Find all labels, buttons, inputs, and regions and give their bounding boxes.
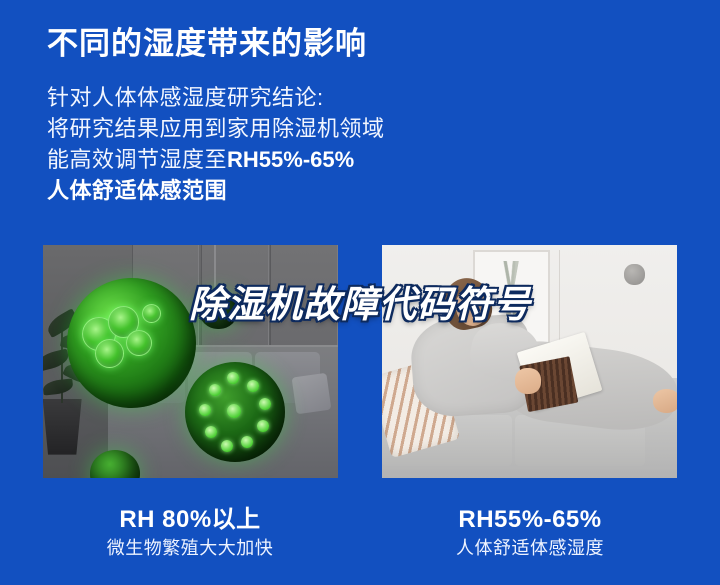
caption-right-description: 人体舒适体感湿度	[380, 535, 680, 561]
intro-line-1: 针对人体体感湿度研究结论:	[47, 82, 527, 113]
virus-spike	[257, 420, 269, 432]
virus-spike	[221, 440, 233, 452]
intro-line-4: 人体舒适体感范围	[47, 175, 527, 206]
virus-spike	[247, 380, 259, 392]
virus-sphere	[185, 362, 285, 462]
throw-pillow	[291, 373, 331, 415]
virus-spike	[241, 436, 253, 448]
plant-leaf	[43, 379, 73, 396]
caption-right-value: RH55%-65%	[380, 505, 680, 535]
intro-line-3: 能高效调节湿度至RH55%-65%	[47, 144, 527, 175]
virus-spike	[227, 372, 239, 384]
virus-spike	[227, 404, 241, 418]
person-foot	[653, 389, 677, 412]
caption-high-humidity: RH 80%以上 微生物繁殖大大加快	[40, 505, 340, 561]
overlay-title: 除湿机故障代码符号	[0, 274, 720, 328]
microbe-cell	[126, 330, 152, 356]
intro-line-3-prefix: 能高效调节湿度至	[47, 147, 227, 172]
page-title: 不同的湿度带来的影响	[47, 18, 367, 63]
intro-line-2: 将研究结果应用到家用除湿机领域	[47, 113, 527, 144]
humidity-range-value: RH55%-65%	[227, 147, 354, 172]
humidity-infographic-poster: 不同的湿度带来的影响 针对人体体感湿度研究结论: 将研究结果应用到家用除湿机领域…	[0, 0, 720, 585]
intro-paragraph: 针对人体体感湿度研究结论: 将研究结果应用到家用除湿机领域 能高效调节湿度至RH…	[47, 82, 527, 206]
virus-spike	[205, 426, 217, 438]
virus-spike	[199, 404, 211, 416]
virus-spike	[259, 398, 271, 410]
plant-pot	[43, 399, 84, 455]
virus-spike	[209, 384, 221, 396]
caption-left-description: 微生物繁殖大大加快	[40, 535, 340, 561]
caption-left-value: RH 80%以上	[40, 505, 340, 535]
person-hand	[515, 368, 542, 394]
caption-comfort-humidity: RH55%-65% 人体舒适体感湿度	[380, 505, 680, 561]
microbe-cell	[95, 339, 124, 368]
